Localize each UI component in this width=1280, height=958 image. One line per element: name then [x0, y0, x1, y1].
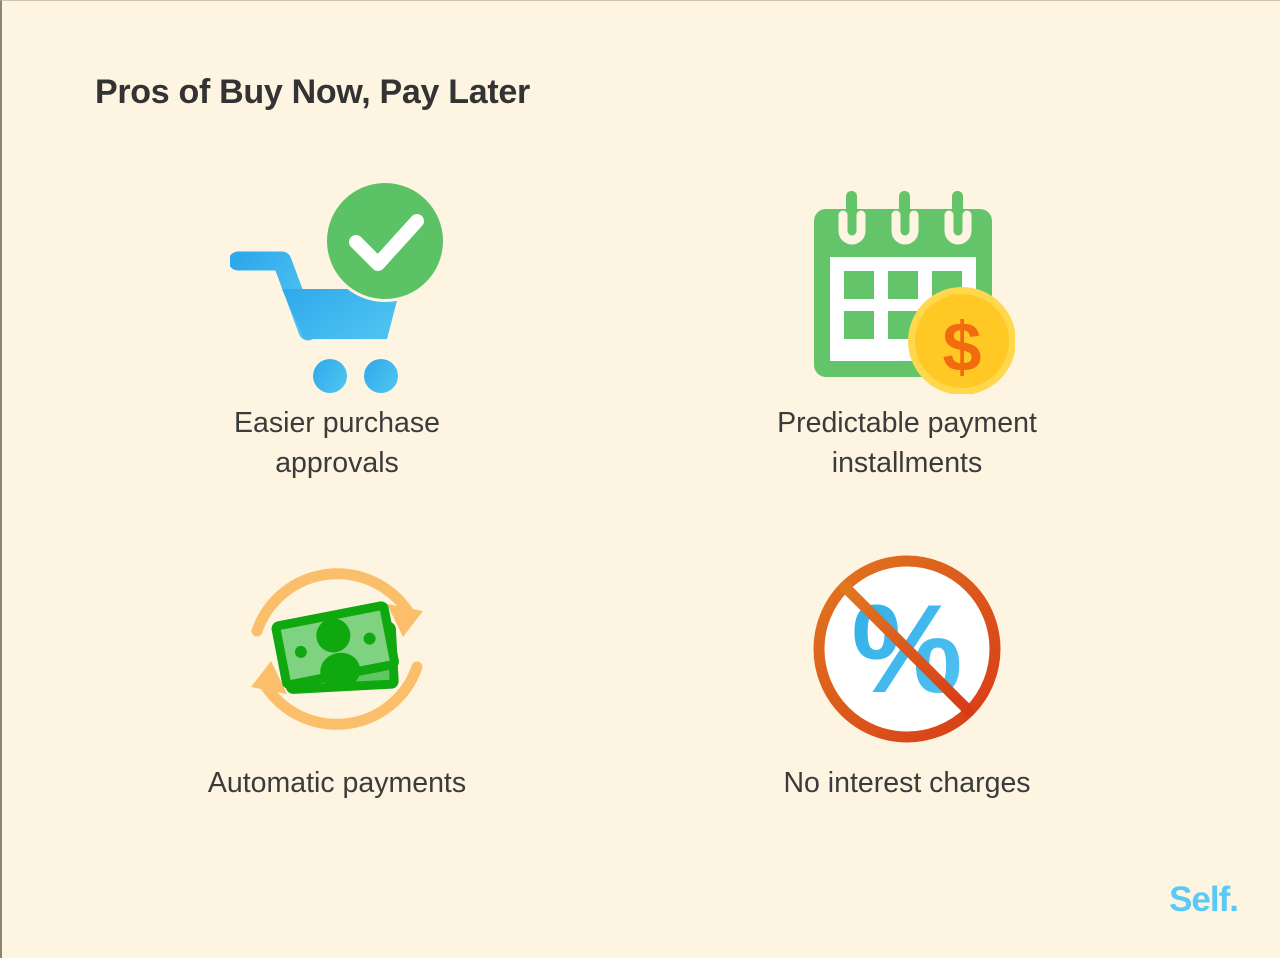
pro-item-easier-purchase-approvals: Easier purchase approvals [102, 171, 572, 484]
icon-container: % [672, 536, 1142, 761]
dollar-sign-icon: $ [942, 308, 981, 386]
pro-item-label: Predictable payment installments [672, 403, 1142, 484]
calendar-coin-icon: $ [800, 179, 1015, 394]
pro-item-label-line1: No interest charges [672, 763, 1142, 803]
pro-item-no-interest-charges: % No interest charges [672, 536, 1142, 803]
pro-item-label-line1: Easier purchase [102, 403, 572, 443]
pros-grid: Easier purchase approvals [2, 171, 1280, 871]
check-badge [327, 183, 443, 299]
icon-container [102, 171, 572, 401]
pro-item-label-line1: Predictable payment [672, 403, 1142, 443]
brand-logo: Self. [1169, 880, 1238, 920]
pro-item-label-line2: installments [672, 443, 1142, 483]
no-percent-icon: % [807, 549, 1007, 749]
calendar-day-cell [844, 271, 874, 299]
pro-item-label: Automatic payments [102, 763, 572, 803]
shopping-cart-check-icon [230, 179, 445, 394]
pro-item-predictable-payment-installments: $ Predictable payment installments [672, 171, 1142, 484]
cart-wheel-left [313, 359, 347, 393]
icon-container: $ [672, 171, 1142, 401]
calendar-day-cell [888, 271, 918, 299]
pro-item-label-line2: approvals [102, 443, 572, 483]
pro-item-label: No interest charges [672, 763, 1142, 803]
infographic-canvas: Pros of Buy Now, Pay Later [0, 0, 1280, 958]
icon-container [102, 536, 572, 761]
pro-item-label: Easier purchase approvals [102, 403, 572, 484]
pro-item-automatic-payments: Automatic payments [102, 536, 572, 803]
pro-item-label-line1: Automatic payments [102, 763, 572, 803]
cart-wheel-right [364, 359, 398, 393]
recurring-cash-icon [237, 549, 437, 749]
calendar-day-cell [844, 311, 874, 339]
page-title: Pros of Buy Now, Pay Later [95, 73, 530, 112]
